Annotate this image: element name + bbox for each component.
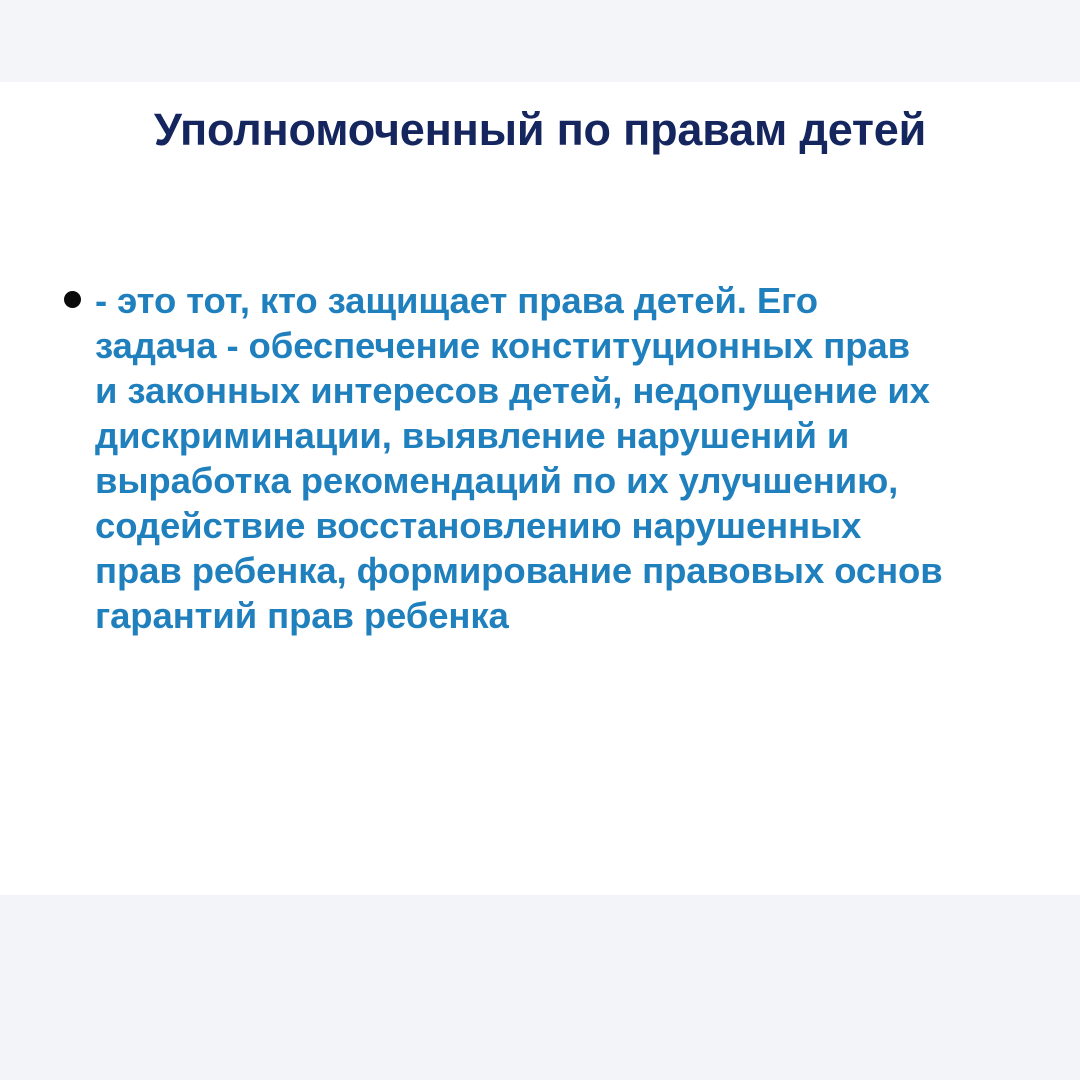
letterbox-band-bottom — [0, 895, 1080, 1080]
slide-page: Уполномоченный по правам детей - это тот… — [0, 0, 1080, 1080]
list-item: - это тот, кто защищает права детей. Его… — [62, 278, 1037, 639]
letterbox-band-top — [0, 0, 1080, 82]
bullet-point-icon — [64, 291, 81, 308]
page-title: Уполномоченный по правам детей — [60, 104, 1020, 155]
slide-canvas: Уполномоченный по правам детей - это тот… — [0, 82, 1080, 895]
body-content: - это тот, кто защищает права детей. Его… — [62, 278, 1037, 639]
body-paragraph: - это тот, кто защищает права детей. Его… — [95, 278, 1037, 639]
